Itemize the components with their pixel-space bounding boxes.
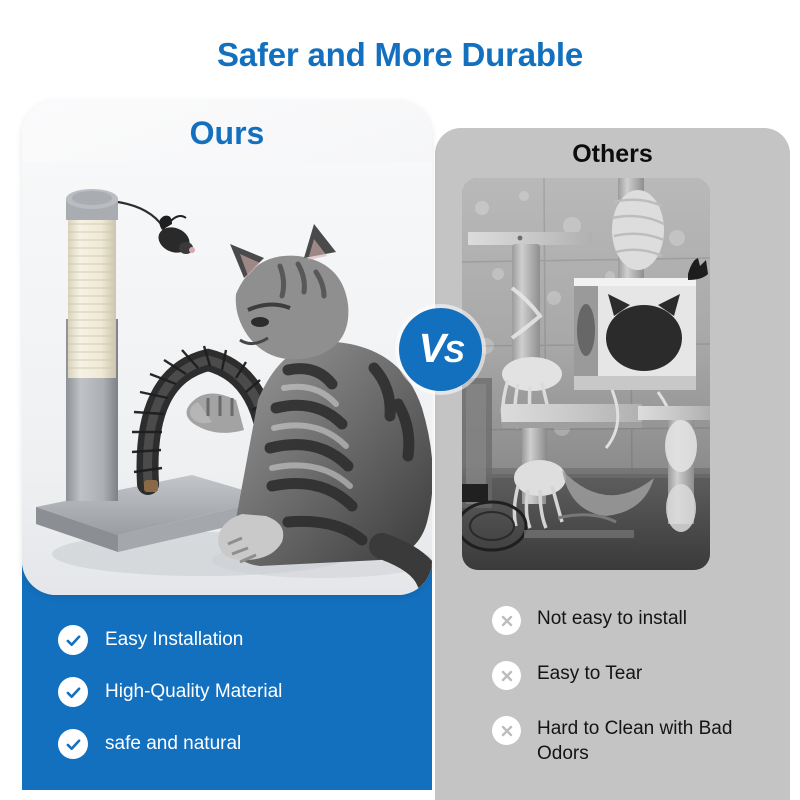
- list-item: Hard to Clean with Bad Odors: [492, 716, 782, 766]
- check-icon: [58, 729, 88, 759]
- list-item: safe and natural: [58, 729, 418, 759]
- page-title: Safer and More Durable: [0, 36, 800, 74]
- cross-icon: [492, 716, 521, 745]
- others-feature-label: Hard to Clean with Bad Odors: [537, 716, 752, 766]
- ours-panel: Ours: [22, 100, 432, 595]
- list-item: High-Quality Material: [58, 677, 418, 707]
- others-label: Others: [435, 140, 790, 169]
- list-item: Not easy to install: [492, 606, 782, 635]
- ours-label: Ours: [22, 115, 432, 152]
- list-item: Easy to Tear: [492, 661, 782, 690]
- check-icon: [58, 625, 88, 655]
- ours-feature-label: High-Quality Material: [105, 680, 282, 704]
- cross-icon: [492, 661, 521, 690]
- ours-feature-label: Easy Installation: [105, 628, 243, 652]
- cross-icon: [492, 606, 521, 635]
- ours-feature-label: safe and natural: [105, 732, 241, 756]
- versus-s: S: [444, 334, 463, 369]
- check-icon: [58, 677, 88, 707]
- others-feature-list: Not easy to install Easy to Tear Hard to…: [492, 606, 782, 766]
- others-feature-label: Not easy to install: [537, 606, 687, 631]
- list-item: Easy Installation: [58, 625, 418, 655]
- versus-badge: VS: [399, 308, 482, 391]
- others-product-photo: [462, 178, 710, 570]
- others-feature-label: Easy to Tear: [537, 661, 642, 686]
- infographic-canvas: Safer and More Durable Others: [0, 0, 800, 800]
- versus-text: VS: [418, 328, 462, 369]
- ours-product-photo: [22, 162, 432, 595]
- versus-v: V: [418, 325, 443, 371]
- ours-feature-list: Easy Installation High-Quality Material …: [58, 625, 418, 759]
